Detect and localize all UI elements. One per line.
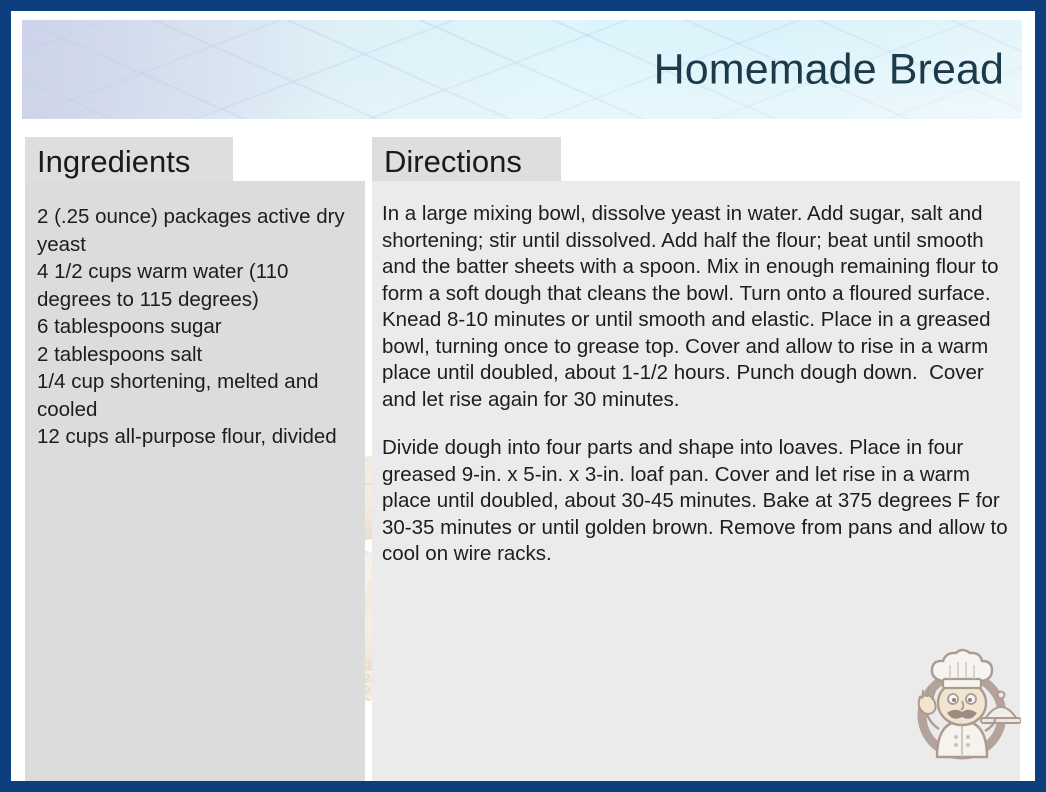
ingredient-item: 12 cups all-purpose flour, divided bbox=[37, 423, 351, 451]
ingredient-item: 2 tablespoons salt bbox=[37, 341, 351, 369]
ingredient-item: 2 (.25 ounce) packages active dry yeast bbox=[37, 203, 351, 258]
directions-paragraph: In a large mixing bowl, dissolve yeast i… bbox=[382, 201, 1012, 413]
title-banner: Homemade Bread bbox=[22, 20, 1022, 119]
directions-paragraph: Divide dough into four parts and shape i… bbox=[382, 435, 1012, 568]
ingredients-panel: 2 (.25 ounce) packages active dry yeast … bbox=[25, 181, 365, 781]
directions-panel: In a large mixing bowl, dissolve yeast i… bbox=[372, 181, 1020, 781]
ingredient-item: 4 1/2 cups warm water (110 degrees to 11… bbox=[37, 258, 351, 313]
ingredient-item: 6 tablespoons sugar bbox=[37, 313, 351, 341]
page-title: Homemade Bread bbox=[654, 47, 1004, 92]
recipe-card-slide: Homemade Bread bbox=[0, 0, 1046, 792]
ingredient-item: 1/4 cup shortening, melted and cooled bbox=[37, 368, 351, 423]
slide-canvas: Homemade Bread bbox=[11, 11, 1035, 781]
